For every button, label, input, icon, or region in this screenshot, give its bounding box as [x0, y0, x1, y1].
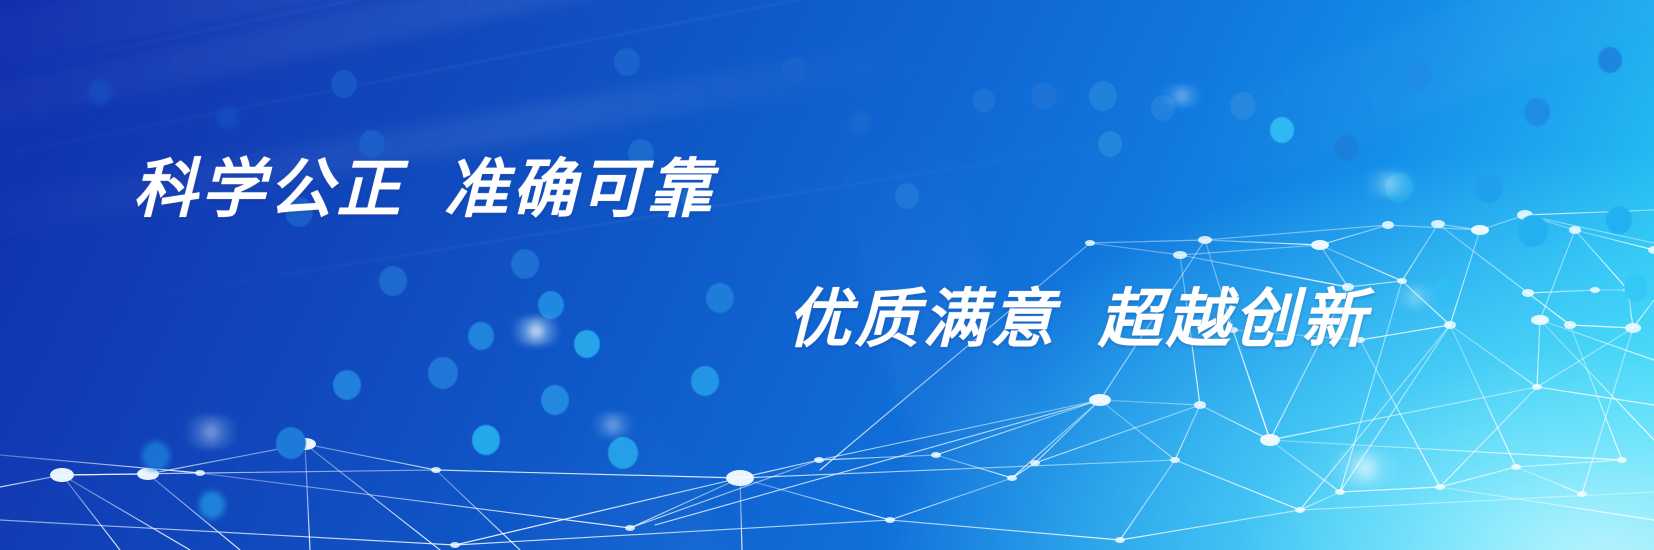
mesh-node	[1471, 225, 1489, 235]
mesh-node	[726, 470, 754, 486]
bokeh-dot	[1403, 60, 1431, 90]
bokeh-dot	[428, 357, 458, 389]
slogan-line-1: 科学公正 准确可靠	[133, 158, 715, 222]
bokeh-dot	[217, 106, 239, 130]
mesh-node	[1625, 323, 1641, 333]
bokeh-dot	[1385, 173, 1413, 203]
mesh-node	[1569, 226, 1581, 234]
mesh-node	[1532, 384, 1542, 390]
bokeh-dot	[973, 89, 995, 113]
bokeh-dot	[614, 48, 640, 76]
bokeh-dot	[538, 291, 564, 319]
slogan-line-2: 优质满意 超越创新	[787, 288, 1369, 352]
mesh-node	[1007, 475, 1017, 481]
mesh-node	[1173, 251, 1187, 259]
mesh-node	[195, 470, 205, 476]
mesh-node	[931, 452, 941, 458]
mesh-node	[625, 525, 635, 531]
mesh-node	[1648, 246, 1654, 254]
bokeh-dot	[472, 425, 500, 455]
bokeh-dot	[1098, 131, 1122, 157]
bokeh-dot	[782, 57, 806, 83]
bokeh-dot	[1524, 98, 1550, 126]
bokeh-dot	[199, 491, 225, 519]
mesh-node	[450, 542, 460, 548]
mesh-node	[1435, 484, 1445, 490]
bokeh-dot	[468, 322, 494, 350]
mesh-node	[814, 457, 824, 463]
mesh-node	[1115, 537, 1125, 543]
mesh-node	[1170, 457, 1180, 463]
bokeh-dot	[895, 183, 919, 209]
mesh-node	[1311, 240, 1329, 250]
mesh-node	[1511, 464, 1521, 470]
mesh-node	[1335, 489, 1345, 495]
mesh-node	[885, 517, 895, 523]
bokeh-dot	[276, 427, 306, 459]
bokeh-dot	[541, 385, 569, 415]
bokeh-dot	[142, 441, 170, 471]
bokeh-dot	[691, 366, 719, 396]
mesh-node-group	[50, 210, 1654, 548]
mesh-node	[431, 467, 441, 473]
mesh-node	[1260, 434, 1280, 446]
bokeh-dot	[1433, 278, 1459, 306]
mesh-node	[1590, 287, 1600, 293]
mesh-node	[1397, 278, 1407, 284]
bokeh-dot	[1606, 206, 1632, 234]
bokeh-dot	[1475, 173, 1503, 203]
mesh-node	[1194, 401, 1206, 409]
mesh-node	[1577, 491, 1587, 497]
mesh-node	[1431, 220, 1445, 228]
bokeh-dot	[1270, 117, 1294, 143]
mesh-node	[1089, 394, 1111, 406]
bokeh-dot	[706, 283, 734, 313]
bokeh-dot	[88, 79, 112, 105]
mesh-node	[50, 468, 74, 482]
mesh-node	[1617, 457, 1627, 463]
bokeh-dot	[574, 330, 600, 358]
bokeh-dot	[1031, 82, 1057, 110]
bokeh-dot	[715, 74, 739, 100]
mesh-node	[1295, 507, 1305, 513]
mesh-node	[1198, 236, 1212, 244]
bokeh-dot	[608, 437, 638, 469]
bokeh-dot	[1598, 47, 1622, 73]
mesh-node	[1564, 321, 1576, 329]
bokeh-dot	[379, 266, 407, 296]
mesh-node	[1030, 460, 1040, 466]
bokeh-dot	[1334, 135, 1358, 161]
mesh-node	[1531, 315, 1549, 325]
bokeh-dot	[511, 249, 539, 279]
mesh-node	[1444, 321, 1456, 329]
bokeh-dot	[849, 111, 871, 135]
technology-banner: 科学公正 准确可靠 优质满意 超越创新	[0, 0, 1654, 550]
bokeh-dot	[1624, 275, 1648, 301]
bokeh-dot	[333, 370, 361, 400]
mesh-node	[1085, 240, 1095, 246]
bokeh-dot	[331, 70, 357, 98]
bokeh-dot	[1089, 81, 1117, 111]
bokeh-dot	[1518, 215, 1548, 247]
bokeh-dot	[1230, 92, 1256, 120]
bokeh-dot	[1151, 95, 1175, 121]
mesh-node	[1382, 221, 1394, 229]
mesh-node	[1522, 289, 1534, 297]
